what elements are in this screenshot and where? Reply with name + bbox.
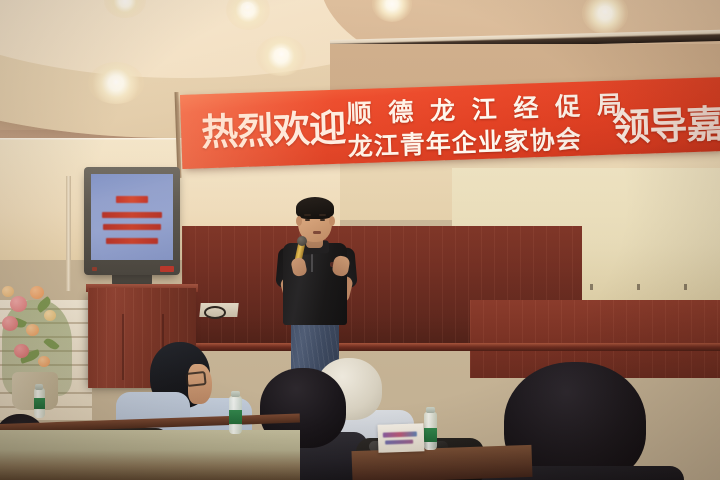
name-card-text (385, 440, 413, 445)
slide-body-line (103, 224, 161, 230)
presentation-monitor (84, 167, 180, 275)
ceiling-spotlight-icon (274, 48, 289, 60)
flower-bloom (2, 316, 18, 331)
bottle-cap-icon (426, 407, 435, 413)
flower-bloom (26, 324, 39, 336)
speaker-eyebrow (304, 214, 311, 216)
slide-body-line (102, 212, 162, 218)
flower-bloom (2, 286, 14, 297)
name-card-text (383, 431, 417, 437)
photo-scene: 热烈欢迎 顺 德 龙 江 经 促 局 龙江青年企业家协会 领导嘉宾 (0, 0, 720, 480)
flower-bloom (38, 356, 50, 367)
ceiling-spotlight-icon (241, 2, 254, 12)
flower-bloom (44, 310, 56, 321)
monitor-power-led-icon (92, 267, 97, 271)
window-frame (66, 176, 71, 291)
speaker-ear (329, 216, 335, 226)
microphone-icon[interactable] (297, 236, 307, 246)
speaker-eye (305, 219, 310, 221)
slide-title-line (116, 196, 148, 203)
flower-bloom (14, 344, 29, 358)
bottle-label (34, 398, 45, 409)
stage-trim-rail (182, 343, 720, 351)
monitor-screen (91, 174, 173, 260)
bottle-label (229, 410, 242, 424)
ceiling-spotlight-icon (108, 76, 124, 88)
speaker-hair (296, 197, 334, 219)
ceiling-spotlight-icon (598, 6, 612, 17)
eyeglasses-icon (185, 371, 206, 387)
cable-coil-icon (204, 306, 226, 319)
slide-body-line (106, 238, 158, 244)
speaker-mouth (313, 231, 321, 234)
bottle-cap-icon (231, 391, 240, 397)
bottle-cap-icon (35, 384, 43, 390)
bottle-label (424, 428, 437, 442)
flower-bloom (30, 286, 44, 299)
speaker-eye (320, 219, 325, 221)
name-card (378, 423, 425, 453)
speaker-ear (296, 216, 302, 226)
flower-bloom (10, 296, 27, 312)
audience-table (0, 430, 300, 480)
monitor-brand-mark (160, 266, 174, 272)
speaker-eyebrow (319, 214, 326, 216)
